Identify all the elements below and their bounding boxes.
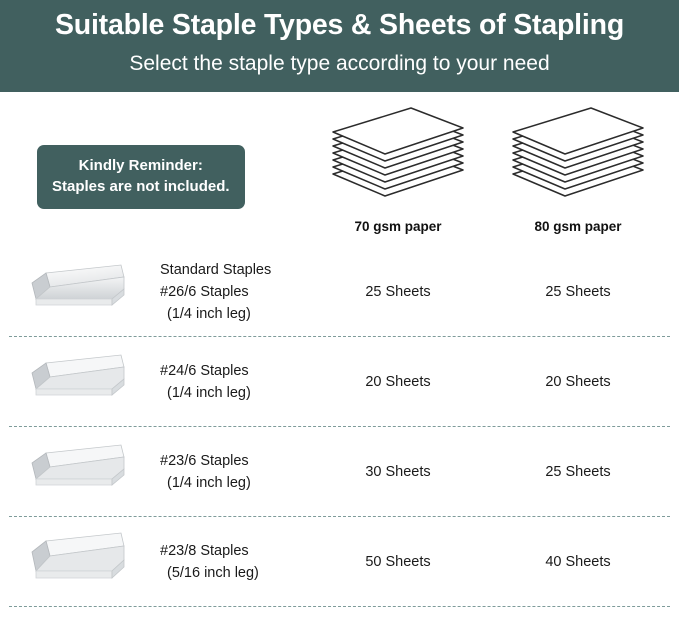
- sheets-70gsm-cell: 30 Sheets: [308, 464, 488, 480]
- table-row: #23/6 Staples (1/4 inch leg) 30 Sheets 2…: [0, 427, 679, 517]
- paper-70gsm-label: 70 gsm paper: [354, 219, 441, 234]
- sheets-80gsm-cell: 25 Sheets: [488, 284, 668, 300]
- staple-name-cell: #23/6 Staples (1/4 inch leg): [160, 450, 308, 494]
- staple-type-table: Standard Staples #26/6 Staples (1/4 inch…: [0, 247, 679, 607]
- paper-stack-icon: [323, 100, 473, 213]
- kindly-reminder-badge: Kindly Reminder: Staples are not include…: [37, 145, 245, 209]
- staple-name-line: (1/4 inch leg): [160, 303, 308, 325]
- reminder-line-2: Staples are not included.: [52, 176, 230, 197]
- staple-name-line: (1/4 inch leg): [160, 472, 308, 494]
- staple-name-line: #26/6 Staples: [160, 281, 308, 303]
- staple-strip-icon: [24, 439, 136, 506]
- staple-name-line: (5/16 inch leg): [160, 562, 308, 584]
- table-row: #24/6 Staples (1/4 inch leg) 20 Sheets 2…: [0, 337, 679, 427]
- reminder-line-1: Kindly Reminder:: [52, 155, 230, 176]
- sheets-70gsm-cell: 50 Sheets: [308, 554, 488, 570]
- staple-image-cell: [0, 349, 160, 416]
- page-title: Suitable Staple Types & Sheets of Stapli…: [55, 8, 624, 44]
- staple-image-cell: [0, 259, 160, 326]
- staple-name-line: #24/6 Staples: [160, 360, 308, 382]
- staple-name-cell: #24/6 Staples (1/4 inch leg): [160, 360, 308, 404]
- staple-name-cell: Standard Staples #26/6 Staples (1/4 inch…: [160, 259, 308, 325]
- sheets-80gsm-cell: 40 Sheets: [488, 554, 668, 570]
- staple-image-cell: [0, 529, 160, 596]
- column-header-80gsm: 80 gsm paper: [488, 100, 668, 234]
- sheets-80gsm-cell: 25 Sheets: [488, 464, 668, 480]
- staple-name-line: #23/6 Staples: [160, 450, 308, 472]
- top-info-strip: Kindly Reminder: Staples are not include…: [0, 92, 679, 247]
- sheets-70gsm-cell: 25 Sheets: [308, 284, 488, 300]
- table-row: #23/8 Staples (5/16 inch leg) 50 Sheets …: [0, 517, 679, 607]
- staple-strip-icon: [24, 259, 136, 326]
- sheets-80gsm-cell: 20 Sheets: [488, 374, 668, 390]
- staple-name-line: Standard Staples: [160, 259, 308, 281]
- sheets-70gsm-cell: 20 Sheets: [308, 374, 488, 390]
- staple-image-cell: [0, 439, 160, 506]
- header-banner: Suitable Staple Types & Sheets of Stapli…: [0, 0, 679, 92]
- row-divider: [9, 606, 670, 607]
- staple-strip-icon: [24, 349, 136, 416]
- paper-stack-icon: [503, 100, 653, 213]
- paper-80gsm-label: 80 gsm paper: [534, 219, 621, 234]
- staple-name-cell: #23/8 Staples (5/16 inch leg): [160, 540, 308, 584]
- staple-name-line: #23/8 Staples: [160, 540, 308, 562]
- staple-strip-icon: [24, 529, 136, 596]
- table-row: Standard Staples #26/6 Staples (1/4 inch…: [0, 247, 679, 337]
- column-header-70gsm: 70 gsm paper: [308, 100, 488, 234]
- staple-name-line: (1/4 inch leg): [160, 382, 308, 404]
- page-subtitle: Select the staple type according to your…: [129, 50, 549, 77]
